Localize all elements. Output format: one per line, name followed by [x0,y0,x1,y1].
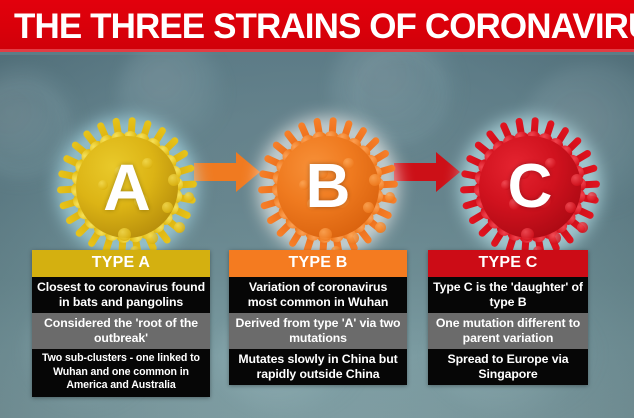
strain-fact-row: Considered the 'root of the outbreak' [32,313,210,349]
strain-fact-row: Variation of coronavirus most common in … [229,277,407,313]
title-bar: THE THREE STRAINS OF CORONAVIRUS [0,0,634,52]
virus-label-c: C [455,112,605,262]
strain-header-type-a: TYPE A [32,250,210,277]
strain-rows-type-b: Variation of coronavirus most common in … [229,277,407,385]
strain-fact-row: Derived from type 'A' via two mutations [229,313,407,349]
strain-rows-type-a: Closest to coronavirus found in bats and… [32,277,210,397]
strain-rows-type-c: Type C is the 'daughter' of type BOne mu… [428,277,588,385]
virus-label-b: B [253,112,403,262]
virus-particle-b: B [253,112,403,262]
strain-fact-row: Closest to coronavirus found in bats and… [32,277,210,313]
strain-card-type-b: TYPE B Variation of coronavirus most com… [229,250,407,385]
page-title: THE THREE STRAINS OF CORONAVIRUS [14,4,626,50]
strain-fact-row: Spread to Europe via Singapore [428,349,588,385]
strain-fact-row: Two sub-clusters - one linked to Wuhan a… [32,349,210,397]
strain-card-type-c: TYPE C Type C is the 'daughter' of type … [428,250,588,385]
strain-fact-row: Mutates slowly in China but rapidly outs… [229,349,407,385]
infographic-canvas: THE THREE STRAINS OF CORONAVIRUS A B C T… [0,0,634,418]
strain-header-type-c: TYPE C [428,250,588,277]
arrow-a-to-b [194,152,260,192]
strain-card-type-a: TYPE A Closest to coronavirus found in b… [32,250,210,397]
virus-particle-a: A [52,112,202,262]
strain-fact-row: One mutation different to parent variati… [428,313,588,349]
strain-header-type-b: TYPE B [229,250,407,277]
virus-particle-c: C [455,112,605,262]
arrow-b-to-c [394,152,460,192]
strain-fact-row: Type C is the 'daughter' of type B [428,277,588,313]
virus-label-a: A [52,112,202,262]
